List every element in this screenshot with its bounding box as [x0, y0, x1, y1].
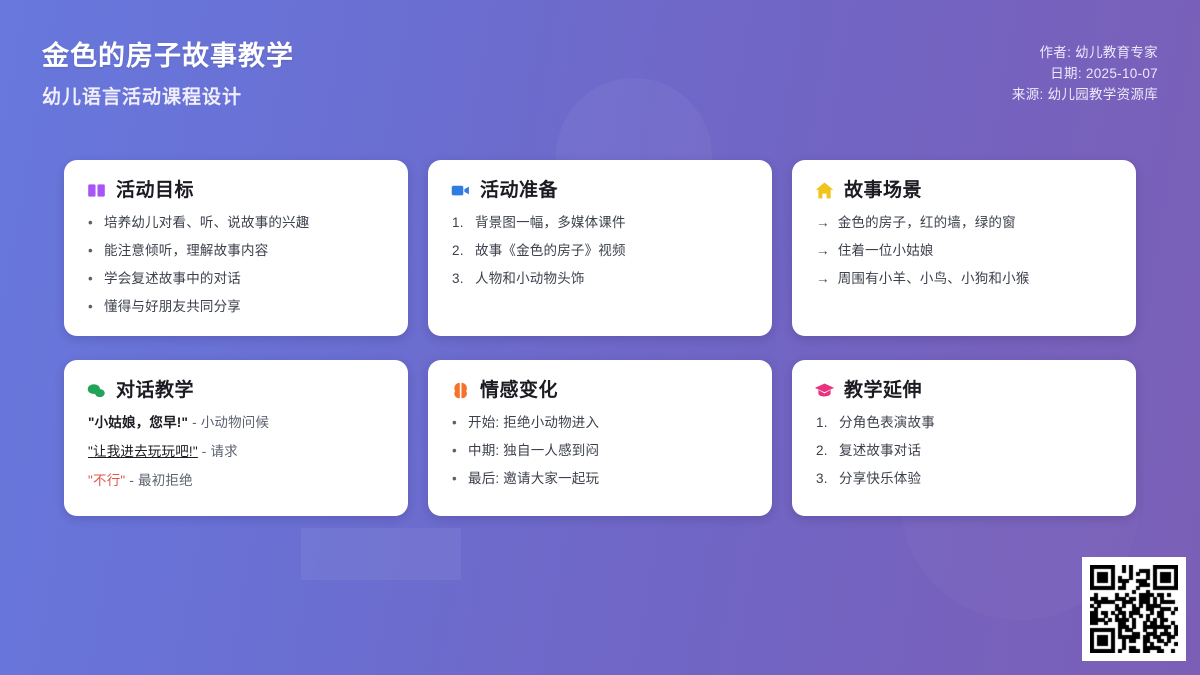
list-item-text: 分角色表演故事 [839, 414, 935, 431]
list-item: 1.背景图一幅，多媒体课件 [452, 214, 750, 231]
bullet-icon: • [452, 442, 460, 459]
bullet-icon: • [88, 298, 96, 315]
house-icon [814, 180, 835, 201]
list-marker-number: 1. [452, 214, 467, 231]
card-teaching-extension: 教学延伸1.分角色表演故事2.复述故事对话3.分享快乐体验 [792, 360, 1136, 516]
list-marker-number: 3. [816, 470, 831, 487]
meta-source: 来源: 幼儿园教学资源库 [1012, 84, 1158, 105]
bullet-icon: • [88, 270, 96, 287]
list-item: 2.故事《金色的房子》视频 [452, 242, 750, 259]
list-item: •学会复述故事中的对话 [88, 270, 386, 287]
card-title: 教学延伸 [844, 381, 922, 400]
list-item-text: 懂得与好朋友共同分享 [104, 298, 241, 315]
list-item-text: 背景图一幅，多媒体课件 [475, 214, 626, 231]
list-item-text: 培养幼儿对看、听、说故事的兴趣 [104, 214, 310, 231]
page-subtitle: 幼儿语言活动课程设计 [42, 82, 294, 109]
dialogue-description: - 小动物问候 [192, 415, 269, 430]
list-item-text: 人物和小动物头饰 [475, 270, 585, 287]
list-item: •能注意倾听，理解故事内容 [88, 242, 386, 259]
card-activity-preparation: 活动准备1.背景图一幅，多媒体课件2.故事《金色的房子》视频3.人物和小动物头饰 [428, 160, 772, 336]
card-title: 故事场景 [844, 181, 922, 200]
list-item-text: 开始: 拒绝小动物进入 [468, 414, 599, 431]
slide-root: 金色的房子故事教学 幼儿语言活动课程设计 作者: 幼儿教育专家 日期: 2025… [0, 0, 1200, 675]
list-item: •中期: 独自一人感到闷 [452, 442, 750, 459]
bullet-icon: • [88, 214, 96, 231]
list-item: →周围有小羊、小鸟、小狗和小猴 [816, 270, 1114, 287]
dialogue-description: - 请求 [202, 444, 238, 459]
list-marker-number: 2. [452, 242, 467, 259]
card-dialogue-teaching: 对话教学"小姑娘，您早!" - 小动物问候"让我进去玩玩吧!" - 请求"不行"… [64, 360, 408, 516]
list-item-text: 住着一位小姑娘 [838, 242, 934, 259]
list-item-text: 学会复述故事中的对话 [104, 270, 241, 287]
card-emotional-change: 情感变化•开始: 拒绝小动物进入•中期: 独自一人感到闷•最后: 邀请大家一起玩 [428, 360, 772, 516]
card-header: 情感变化 [450, 380, 750, 401]
dialogue-line: "不行" - 最初拒绝 [88, 472, 386, 489]
list-item-text: 中期: 独自一人感到闷 [468, 442, 599, 459]
list-item-text: 最后: 邀请大家一起玩 [468, 470, 599, 487]
qr-code[interactable] [1090, 565, 1178, 653]
list-item: →住着一位小姑娘 [816, 242, 1114, 259]
card-activity-goals: 活动目标•培养幼儿对看、听、说故事的兴趣•能注意倾听，理解故事内容•学会复述故事… [64, 160, 408, 336]
list-item: 3.分享快乐体验 [816, 470, 1114, 487]
qr-code-container[interactable] [1082, 557, 1186, 661]
dialogue-quote: "不行" [88, 473, 125, 488]
page-title: 金色的房子故事教学 [42, 40, 294, 74]
metadata-block: 作者: 幼儿教育专家 日期: 2025-10-07 来源: 幼儿园教学资源库 [1012, 42, 1158, 105]
list-item-text: 能注意倾听，理解故事内容 [104, 242, 268, 259]
list-item-text: 周围有小羊、小鸟、小狗和小猴 [838, 270, 1030, 287]
arrow-icon: → [816, 242, 830, 259]
card-header: 故事场景 [814, 180, 1114, 201]
list-item: •最后: 邀请大家一起玩 [452, 470, 750, 487]
card-title: 活动准备 [480, 181, 558, 200]
title-block: 金色的房子故事教学 幼儿语言活动课程设计 [42, 40, 294, 109]
brain-icon [450, 380, 471, 401]
graduation-cap-icon [814, 380, 835, 401]
dialogue-line: "小姑娘，您早!" - 小动物问候 [88, 414, 386, 431]
list-marker-number: 2. [816, 442, 831, 459]
slide-header: 金色的房子故事教学 幼儿语言活动课程设计 作者: 幼儿教育专家 日期: 2025… [0, 0, 1200, 140]
bullet-icon: • [452, 414, 460, 431]
list-item-text: 金色的房子，红的墙，绿的窗 [838, 214, 1016, 231]
list-marker-number: 3. [452, 270, 467, 287]
chat-bubble-icon [86, 380, 107, 401]
card-header: 教学延伸 [814, 380, 1114, 401]
list-item: 2.复述故事对话 [816, 442, 1114, 459]
meta-author: 作者: 幼儿教育专家 [1012, 42, 1158, 63]
card-title: 活动目标 [116, 181, 194, 200]
list-item: 3.人物和小动物头饰 [452, 270, 750, 287]
dialogue-quote: "让我进去玩玩吧!" [88, 444, 198, 459]
list-item-text: 复述故事对话 [839, 442, 921, 459]
decorative-rectangle [301, 528, 461, 580]
card-story-scene: 故事场景→金色的房子，红的墙，绿的窗→住着一位小姑娘→周围有小羊、小鸟、小狗和小… [792, 160, 1136, 336]
list-item-text: 分享快乐体验 [839, 470, 921, 487]
card-body: •培养幼儿对看、听、说故事的兴趣•能注意倾听，理解故事内容•学会复述故事中的对话… [86, 214, 386, 315]
card-body: •开始: 拒绝小动物进入•中期: 独自一人感到闷•最后: 邀请大家一起玩 [450, 414, 750, 487]
bullet-icon: • [452, 470, 460, 487]
cards-grid: 活动目标•培养幼儿对看、听、说故事的兴趣•能注意倾听，理解故事内容•学会复述故事… [64, 160, 1142, 516]
card-body: "小姑娘，您早!" - 小动物问候"让我进去玩玩吧!" - 请求"不行" - 最… [86, 414, 386, 489]
arrow-icon: → [816, 214, 830, 231]
list-item: •开始: 拒绝小动物进入 [452, 414, 750, 431]
list-marker-number: 1. [816, 414, 831, 431]
card-title: 情感变化 [480, 381, 558, 400]
arrow-icon: → [816, 270, 830, 287]
dialogue-description: - 最初拒绝 [129, 473, 192, 488]
bullet-icon: • [88, 242, 96, 259]
video-camera-icon [450, 180, 471, 201]
card-header: 活动目标 [86, 180, 386, 201]
list-item-text: 故事《金色的房子》视频 [475, 242, 626, 259]
list-item: →金色的房子，红的墙，绿的窗 [816, 214, 1114, 231]
list-item: •懂得与好朋友共同分享 [88, 298, 386, 315]
list-item: 1.分角色表演故事 [816, 414, 1114, 431]
meta-date: 日期: 2025-10-07 [1012, 63, 1158, 84]
card-header: 对话教学 [86, 380, 386, 401]
card-body: →金色的房子，红的墙，绿的窗→住着一位小姑娘→周围有小羊、小鸟、小狗和小猴 [814, 214, 1114, 287]
list-item: •培养幼儿对看、听、说故事的兴趣 [88, 214, 386, 231]
card-header: 活动准备 [450, 180, 750, 201]
book-icon [86, 180, 107, 201]
card-body: 1.背景图一幅，多媒体课件2.故事《金色的房子》视频3.人物和小动物头饰 [450, 214, 750, 287]
dialogue-line: "让我进去玩玩吧!" - 请求 [88, 443, 386, 460]
card-body: 1.分角色表演故事2.复述故事对话3.分享快乐体验 [814, 414, 1114, 487]
card-title: 对话教学 [116, 381, 194, 400]
dialogue-quote: "小姑娘，您早!" [88, 415, 188, 430]
